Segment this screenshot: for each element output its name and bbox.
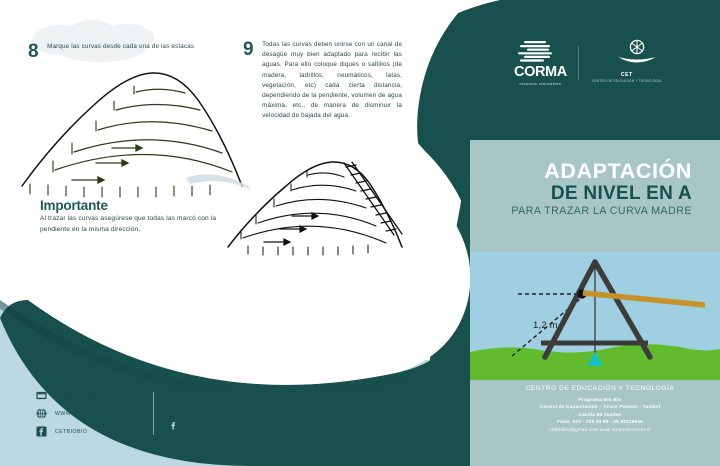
poster-canvas: 8 Marque las curvas desde cada una de la…: [0, 0, 720, 466]
footer-divider: [153, 392, 154, 435]
email-icon: [36, 390, 47, 401]
title-block: ADAPTACIÓN DE NIVEL EN A PARA TRAZAR LA …: [511, 160, 692, 219]
importante-text: Al trazar las curvas asegúrese que todas…: [40, 214, 235, 236]
page-title: ADAPTACIÓN: [511, 160, 692, 183]
step-8: 8 Marque las curvas desde cada una de la…: [28, 42, 238, 61]
step-8-text: Marque las curvas desde cada una de las …: [47, 42, 215, 61]
contact-website-row[interactable]: WWW.CORPORACIONCET.CL: [36, 408, 137, 419]
contact-twitter-row[interactable]: @cormachile: [168, 402, 226, 413]
page-subtitle: DE NIVEL EN A: [511, 183, 692, 204]
page-tagline: PARA TRAZAR LA CURVA MADRE: [511, 205, 692, 219]
diagram-grass-fill: [470, 366, 720, 380]
corma-wordmark: CORMA: [514, 65, 567, 80]
facebook-icon: [168, 420, 179, 431]
a-frame-diagram: [470, 252, 720, 380]
contact-facebook-row[interactable]: CETBIOBIO: [36, 426, 137, 437]
corma-tagline: recursos renovables: [520, 81, 562, 86]
cet-wordmark: CET: [621, 72, 633, 78]
cet-tagline: CENTRO DE EDUCACION Y TECNOLOGIA: [592, 79, 662, 83]
footer-left: CETBIOBIO@GMAIL.COM WWW.CORPORACIONCET.C…: [36, 390, 226, 437]
logo-divider: [578, 46, 579, 80]
step-9-number: 9: [243, 40, 253, 122]
step-9: 9 Todas las curvas deben unirse con un c…: [243, 40, 413, 122]
contact-facebook-text: CETBIOBIO: [55, 429, 87, 435]
contact-email-row[interactable]: CETBIOBIO@GMAIL.COM: [36, 390, 137, 401]
footer-right: CENTRO DE EDUCACIÓN Y TECNOLOGÍA Program…: [486, 385, 714, 433]
importante-block: Importante Al trazar las curvas asegúres…: [40, 198, 235, 236]
importante-heading: Importante: [40, 198, 235, 213]
footer-left-column-1: CETBIOBIO@GMAIL.COM WWW.CORPORACIONCET.C…: [36, 390, 137, 437]
footer-right-line-3: Casilla 98 Yumbel: [486, 411, 714, 418]
footer-right-line-5[interactable]: cetbiobio@gmail.com www.corporacioncet.c…: [486, 426, 714, 433]
footer-right-line-4: Fono: 043 - 229 36 98 - 09 82018940: [486, 418, 714, 425]
contact-twitter-text: @cormachile: [187, 405, 222, 411]
logo-bar: CORMA recursos renovables CET CENTRO DE …: [514, 38, 690, 88]
step-9-text: Todas las curvas deben unirse con un can…: [262, 40, 402, 122]
footer-right-title: CENTRO DE EDUCACIÓN Y TECNOLOGÍA: [486, 385, 714, 392]
corma-logo: CORMA recursos renovables: [514, 40, 567, 86]
step-8-number: 8: [28, 42, 38, 61]
cet-logo: CET CENTRO DE EDUCACION Y TECNOLOGIA: [592, 43, 662, 83]
twitter-icon: [168, 402, 179, 413]
contact-facebook-corma-text: CORMACHILE: [187, 423, 226, 429]
facebook-icon: [36, 426, 47, 437]
dimension-label: 1,2 m: [533, 320, 558, 331]
footer-left-column-2: @cormachile CORMACHILE: [168, 390, 226, 437]
contact-facebook-corma-row[interactable]: CORMACHILE: [168, 420, 226, 431]
contact-website-text: WWW.CORPORACIONCET.CL: [55, 411, 137, 417]
footer-right-line-1: Programa Bío Bío: [486, 396, 714, 403]
footer-right-line-2: Central de Capacitación – Cruce Pinuchi …: [486, 403, 714, 410]
globe-icon: [36, 408, 47, 419]
contact-email-text: CETBIOBIO@GMAIL.COM: [55, 393, 127, 399]
